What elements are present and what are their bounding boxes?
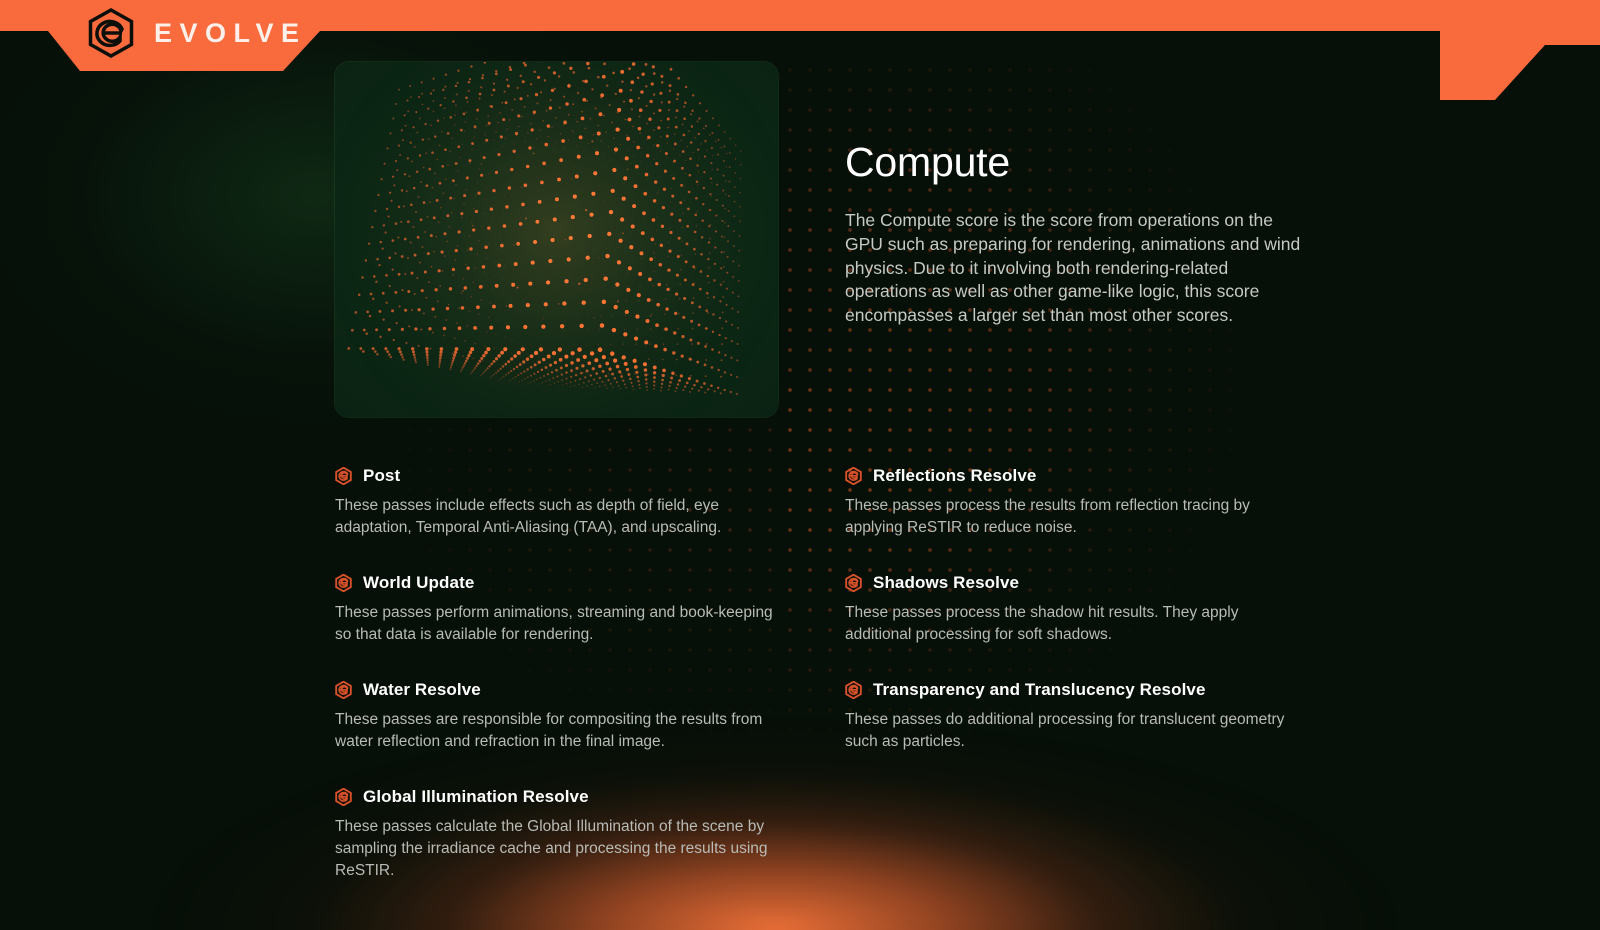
evolve-hex-bullet-icon bbox=[335, 681, 352, 699]
feature-title: Reflections Resolve bbox=[873, 466, 1036, 486]
feature-title: Global Illumination Resolve bbox=[363, 787, 589, 807]
feature-item: Reflections ResolveThese passes process … bbox=[845, 466, 1285, 539]
feature-description: These passes do additional processing fo… bbox=[845, 709, 1285, 753]
evolve-hex-bullet-icon bbox=[335, 574, 352, 592]
feature-heading: Reflections Resolve bbox=[845, 466, 1285, 486]
feature-description: These passes process the results from re… bbox=[845, 495, 1285, 539]
feature-heading: Post bbox=[335, 466, 785, 486]
feature-item: PostThese passes include effects such as… bbox=[335, 466, 785, 539]
hero-description: The Compute score is the score from oper… bbox=[845, 209, 1305, 328]
feature-column-left: PostThese passes include effects such as… bbox=[335, 466, 845, 916]
feature-title: Post bbox=[363, 466, 400, 486]
feature-description: These passes process the shadow hit resu… bbox=[845, 602, 1285, 646]
evolve-hexagon-e-logo-icon bbox=[86, 8, 136, 58]
feature-description: These passes are responsible for composi… bbox=[335, 709, 785, 753]
feature-description: These passes calculate the Global Illumi… bbox=[335, 816, 785, 882]
hero-copy: Compute The Compute score is the score f… bbox=[845, 140, 1305, 328]
feature-description: These passes include effects such as dep… bbox=[335, 495, 785, 539]
feature-heading: World Update bbox=[335, 573, 785, 593]
feature-list: PostThese passes include effects such as… bbox=[335, 466, 1335, 916]
feature-description: These passes perform animations, streami… bbox=[335, 602, 785, 646]
feature-item: World UpdateThese passes perform animati… bbox=[335, 573, 785, 646]
evolve-hex-bullet-icon bbox=[335, 788, 352, 806]
page-root: EVOLVE Compute The Compute score is the … bbox=[0, 0, 1600, 930]
feature-item: Transparency and Translucency ResolveThe… bbox=[845, 680, 1285, 753]
page-title: Compute bbox=[845, 140, 1305, 185]
feature-column-right: Reflections ResolveThese passes process … bbox=[845, 466, 1335, 916]
evolve-hex-bullet-icon bbox=[845, 574, 862, 592]
feature-title: World Update bbox=[363, 573, 474, 593]
point-cloud-cube-visualization bbox=[335, 62, 778, 417]
brand-logo[interactable]: EVOLVE bbox=[86, 8, 307, 58]
compute-visualization-panel bbox=[335, 62, 778, 417]
feature-heading: Water Resolve bbox=[335, 680, 785, 700]
evolve-hex-bullet-icon bbox=[335, 467, 352, 485]
feature-title: Shadows Resolve bbox=[873, 573, 1019, 593]
feature-item: Global Illumination ResolveThese passes … bbox=[335, 787, 785, 882]
feature-title: Water Resolve bbox=[363, 680, 481, 700]
evolve-hex-bullet-icon bbox=[845, 467, 862, 485]
feature-title: Transparency and Translucency Resolve bbox=[873, 680, 1206, 700]
feature-item: Shadows ResolveThese passes process the … bbox=[845, 573, 1285, 646]
feature-item: Water ResolveThese passes are responsibl… bbox=[335, 680, 785, 753]
evolve-hex-bullet-icon bbox=[845, 681, 862, 699]
feature-heading: Global Illumination Resolve bbox=[335, 787, 785, 807]
feature-heading: Shadows Resolve bbox=[845, 573, 1285, 593]
brand-name: EVOLVE bbox=[154, 18, 307, 49]
feature-heading: Transparency and Translucency Resolve bbox=[845, 680, 1285, 700]
